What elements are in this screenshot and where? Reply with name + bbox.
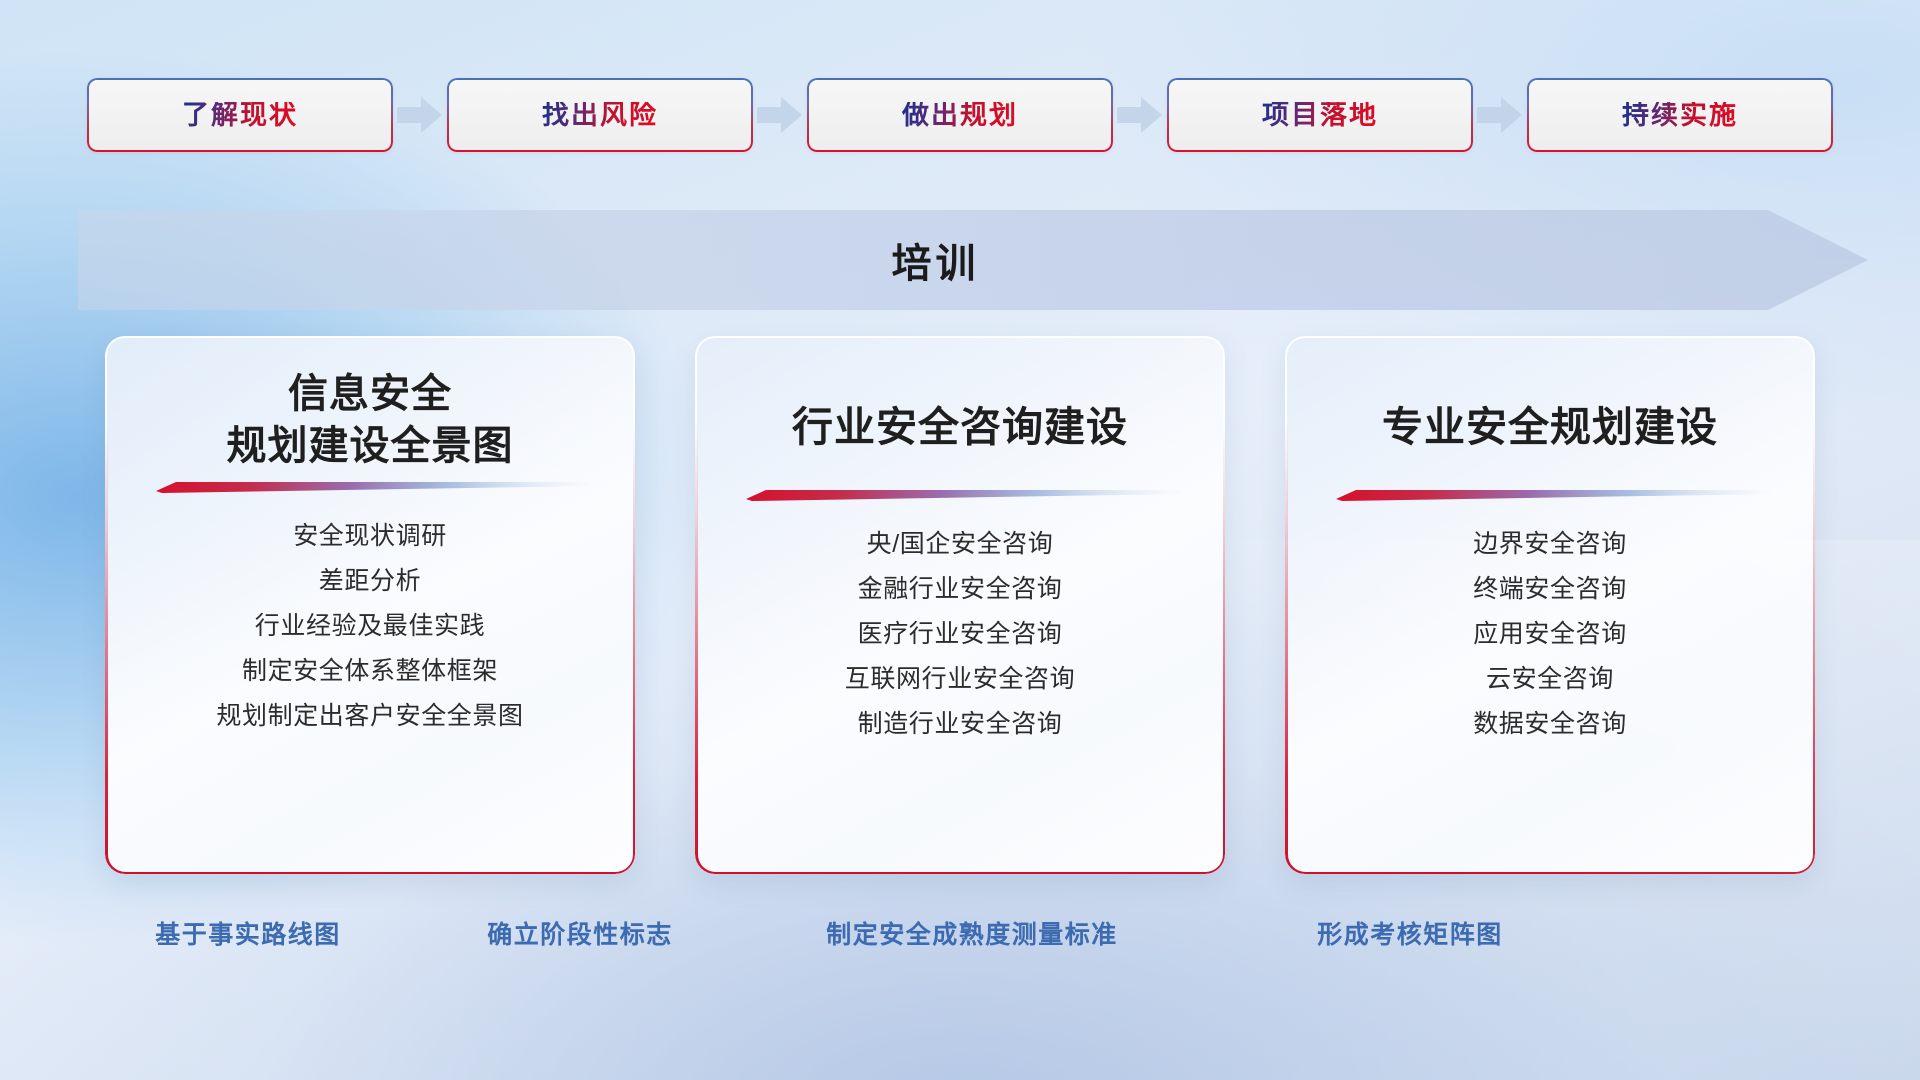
- step-arrow-icon-4: [1473, 78, 1527, 152]
- card-2-divider: [740, 488, 1180, 502]
- card-1[interactable]: 信息安全 规划建设全景图: [105, 336, 635, 874]
- step-arrow-icon-3: [1113, 78, 1167, 152]
- banner-label: 培训: [78, 210, 1793, 310]
- list-item: 央/国企安全咨询: [867, 528, 1054, 560]
- step-arrow-icon-2: [753, 78, 807, 152]
- list-item: 医疗行业安全咨询: [858, 618, 1063, 650]
- step-box-2[interactable]: 找出风险: [447, 78, 753, 152]
- list-item: 行业经验及最佳实践: [255, 610, 485, 642]
- card-1-list: 安全现状调研 差距分析 行业经验及最佳实践 制定安全体系整体框架 规划制定出客户…: [105, 520, 635, 732]
- caption-row: 基于事实路线图 确立阶段性标志 制定安全成熟度测量标准 形成考核矩阵图: [0, 915, 1920, 961]
- card-2-list: 央/国企安全咨询 金融行业安全咨询 医疗行业安全咨询 互联网行业安全咨询 制造行…: [695, 528, 1225, 740]
- card-2[interactable]: 行业安全咨询建设: [695, 336, 1225, 874]
- caption-4: 形成考核矩阵图: [1317, 915, 1503, 951]
- caption-3: 制定安全成熟度测量标准: [826, 915, 1118, 951]
- card-3-divider: [1330, 488, 1770, 502]
- card-3[interactable]: 专业安全规划建设: [1285, 336, 1815, 874]
- list-item: 制造行业安全咨询: [858, 708, 1063, 740]
- step-box-3[interactable]: 做出规划: [807, 78, 1113, 152]
- list-item: 规划制定出客户安全全景图: [216, 700, 523, 732]
- card-1-title-line-1: 信息安全: [105, 368, 635, 420]
- list-item: 应用安全咨询: [1473, 618, 1627, 650]
- card-3-title-line-1: 专业安全规划建设: [1285, 401, 1815, 454]
- list-item: 边界安全咨询: [1473, 528, 1627, 560]
- list-item: 终端安全咨询: [1473, 573, 1627, 605]
- step-box-4[interactable]: 项目落地: [1167, 78, 1473, 152]
- card-1-divider: [150, 480, 590, 494]
- card-3-title: 专业安全规划建设: [1285, 374, 1815, 482]
- step-label: 了解现状: [182, 102, 298, 129]
- list-item: 互联网行业安全咨询: [845, 663, 1075, 695]
- card-2-title: 行业安全咨询建设: [695, 374, 1225, 482]
- step-box-5[interactable]: 持续实施: [1527, 78, 1833, 152]
- caption-2: 确立阶段性标志: [487, 915, 673, 951]
- list-item: 云安全咨询: [1486, 663, 1614, 695]
- list-item: 安全现状调研: [293, 520, 447, 552]
- card-1-title: 信息安全 规划建设全景图: [105, 366, 635, 474]
- list-item: 金融行业安全咨询: [858, 573, 1063, 605]
- list-item: 差距分析: [319, 565, 421, 597]
- caption-1: 基于事实路线图: [155, 915, 341, 951]
- step-label: 找出风险: [542, 102, 658, 129]
- step-box-1[interactable]: 了解现状: [87, 78, 393, 152]
- step-arrow-icon-1: [393, 78, 447, 152]
- list-item: 制定安全体系整体框架: [242, 655, 498, 687]
- card-2-title-line-1: 行业安全咨询建设: [695, 401, 1225, 454]
- slide-canvas: 了解现状 找出风险 做出规划 项目落地: [0, 0, 1920, 1080]
- step-label: 持续实施: [1622, 102, 1738, 129]
- card-group: 信息安全 规划建设全景图: [0, 336, 1920, 876]
- step-label: 项目落地: [1262, 102, 1378, 129]
- card-3-list: 边界安全咨询 终端安全咨询 应用安全咨询 云安全咨询 数据安全咨询: [1285, 528, 1815, 740]
- step-label: 做出规划: [902, 102, 1018, 129]
- step-flow: 了解现状 找出风险 做出规划 项目落地: [0, 78, 1920, 152]
- training-banner: 培训: [78, 210, 1868, 310]
- card-1-title-line-2: 规划建设全景图: [105, 420, 635, 472]
- list-item: 数据安全咨询: [1473, 708, 1627, 740]
